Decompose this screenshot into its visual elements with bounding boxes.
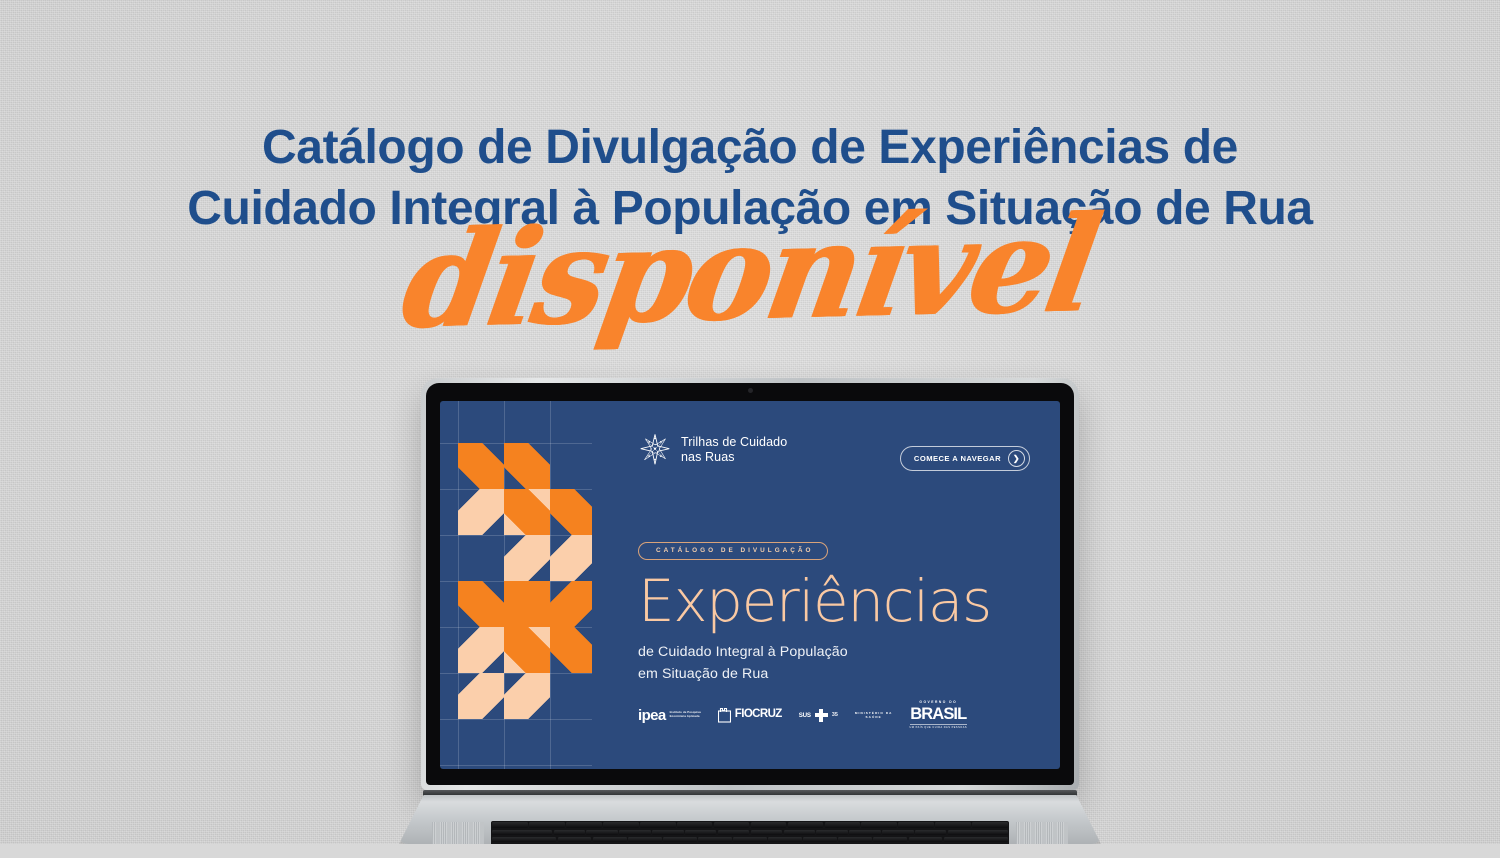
chevron-cell bbox=[504, 443, 550, 489]
keyboard-key bbox=[901, 844, 937, 850]
chevron-cell bbox=[504, 673, 550, 719]
grid-line-horizontal bbox=[440, 719, 592, 720]
brand-name: Trilhas de Cuidado nas Ruas bbox=[681, 435, 787, 466]
keyboard-key bbox=[944, 837, 1008, 843]
chevron-cell bbox=[504, 581, 550, 627]
fiocruz-mark-icon bbox=[718, 708, 731, 723]
keyboard-key bbox=[803, 837, 837, 843]
keyboard-key bbox=[603, 822, 639, 828]
chevron-cell bbox=[458, 627, 504, 673]
chevron-cell bbox=[458, 673, 504, 719]
ipea-subtitle: Instituto de Pesquisa Econômica Aplicada bbox=[670, 711, 701, 719]
governo-do-brasil-wordmark: BRASIL bbox=[910, 706, 968, 723]
keyboard-key bbox=[529, 822, 565, 828]
laptop-base bbox=[399, 781, 1101, 844]
speaker-grille-left bbox=[432, 822, 484, 855]
hero-block: CATÁLOGO DE DIVULGAÇÃO Experiências de C… bbox=[638, 539, 1036, 685]
governo-do-brasil-logo: GOVERNO DO BRASIL UM PAÍS QUE CUIDA DAS … bbox=[910, 701, 968, 729]
ministerio-line-2: SAÚDE bbox=[855, 715, 893, 719]
keyboard-key bbox=[733, 837, 767, 843]
governo-do-brasil-tagline: UM PAÍS QUE CUIDA DAS PESSOAS bbox=[910, 724, 968, 729]
chevron-cell bbox=[504, 627, 550, 673]
ministerio-da-saude-logo: MINISTÉRIO DA SAÚDE bbox=[855, 711, 893, 720]
page-title-line-2: Cuidado Integral à População em Situação… bbox=[0, 179, 1500, 240]
chevron-right-circle-icon: ❯ bbox=[1008, 450, 1025, 467]
keyboard-key bbox=[816, 830, 847, 836]
keyboard-key bbox=[873, 837, 907, 843]
hero-subtitle: de Cuidado Integral à População em Situa… bbox=[638, 642, 1036, 685]
keyboard-key bbox=[825, 822, 861, 828]
fiocruz-wordmark: FIOCRUZ bbox=[735, 709, 782, 721]
keyboard-key bbox=[948, 830, 1008, 836]
keyboard-row bbox=[492, 851, 1007, 857]
keyboard-key bbox=[788, 822, 824, 828]
keyboard-key bbox=[628, 837, 662, 843]
brand-lockup[interactable]: Trilhas de Cuidado nas Ruas bbox=[638, 433, 787, 467]
brand-name-line-1: Trilhas de Cuidado bbox=[681, 435, 787, 449]
hero-title: Experiências bbox=[638, 573, 1036, 630]
keyboard-key bbox=[713, 844, 749, 850]
ministerio-da-saude-wordmark: MINISTÉRIO DA SAÚDE bbox=[855, 711, 893, 720]
keyboard-key bbox=[718, 830, 749, 836]
laptop-screen: Trilhas de Cuidado nas Ruas COMECE A NAV… bbox=[440, 401, 1060, 769]
keyboard-key bbox=[652, 830, 683, 836]
keyboard-key bbox=[536, 851, 578, 857]
chevron-cell bbox=[550, 489, 592, 535]
keyboard-key bbox=[826, 844, 862, 850]
keyboard-key bbox=[922, 851, 964, 857]
keyboard-key bbox=[558, 837, 592, 843]
keyboard-key bbox=[580, 851, 622, 857]
keyboard-key bbox=[663, 837, 697, 843]
keyboard-key bbox=[838, 837, 872, 843]
keyboard-key bbox=[784, 830, 815, 836]
keyboard-key bbox=[566, 822, 602, 828]
grid-line-horizontal bbox=[440, 765, 592, 766]
keyboard-key bbox=[751, 830, 782, 836]
keyboard-key bbox=[675, 844, 711, 850]
keyboard-key bbox=[640, 822, 676, 828]
keyboard-key bbox=[619, 830, 650, 836]
laptop-keyboard[interactable] bbox=[491, 821, 1009, 858]
keyboard-key bbox=[768, 837, 802, 843]
start-navigating-label: COMECE A NAVEGAR bbox=[914, 454, 1001, 463]
keyboard-key bbox=[638, 844, 674, 850]
laptop-deck bbox=[399, 795, 1101, 844]
keyboard-key bbox=[492, 830, 552, 836]
keyboard-key bbox=[593, 837, 627, 843]
keyboard-key bbox=[909, 837, 943, 843]
hero-subtitle-line-2: em Situação de Rua bbox=[638, 664, 1036, 685]
sus-cross-icon bbox=[815, 709, 828, 722]
keyboard-key bbox=[935, 822, 971, 828]
keyboard-key bbox=[861, 822, 897, 828]
chevron-cell bbox=[550, 627, 592, 673]
keyboard-key bbox=[563, 844, 599, 850]
keyboard-key bbox=[788, 844, 824, 850]
ipea-wordmark: ipea bbox=[638, 708, 666, 723]
keyboard-key bbox=[863, 844, 899, 850]
eight-point-star-icon bbox=[638, 433, 672, 467]
keyboard-key bbox=[965, 851, 1007, 857]
keyboard-key bbox=[492, 844, 561, 850]
keyboard-key bbox=[751, 844, 787, 850]
screen-content: Trilhas de Cuidado nas Ruas COMECE A NAV… bbox=[592, 401, 1060, 769]
keyboard-key bbox=[492, 851, 534, 857]
laptop-bezel: Trilhas de Cuidado nas Ruas COMECE A NAV… bbox=[426, 383, 1074, 785]
keyboard-key bbox=[492, 822, 528, 828]
chevron-cell bbox=[504, 535, 550, 581]
brand-name-line-2: nas Ruas bbox=[681, 450, 787, 465]
chevron-cell bbox=[550, 581, 592, 627]
page-title-line-1: Catálogo de Divulgação de Experiências d… bbox=[0, 118, 1500, 179]
governo-do-brasil-prefix: GOVERNO DO bbox=[910, 701, 968, 704]
speaker-grille-right bbox=[1016, 822, 1068, 855]
keyboard-key bbox=[698, 837, 732, 843]
keyboard-row bbox=[492, 822, 1007, 828]
laptop-lid: Trilhas de Cuidado nas Ruas COMECE A NAV… bbox=[421, 378, 1079, 790]
fiocruz-logo: FIOCRUZ bbox=[718, 708, 782, 723]
keyboard-row bbox=[492, 830, 1007, 836]
partner-logo-strip: ipea Instituto de Pesquisa Econômica Apl… bbox=[638, 701, 967, 729]
keyboard-key bbox=[492, 837, 556, 843]
hero-subtitle-line-1: de Cuidado Integral à População bbox=[638, 642, 1036, 663]
chevron-cell bbox=[458, 443, 504, 489]
catalog-kicker-badge: CATÁLOGO DE DIVULGAÇÃO bbox=[638, 542, 828, 560]
keyboard-key bbox=[915, 830, 946, 836]
keyboard-key bbox=[714, 822, 750, 828]
keyboard-row bbox=[492, 844, 1007, 850]
keyboard-key bbox=[972, 822, 1008, 828]
keyboard-row bbox=[492, 837, 1007, 843]
keyboard-key bbox=[751, 822, 787, 828]
keyboard-key bbox=[849, 830, 880, 836]
keyboard-key bbox=[677, 822, 713, 828]
keyboard-key bbox=[600, 844, 636, 850]
sus-logo: SUS 35 bbox=[799, 709, 838, 722]
keyboard-key bbox=[554, 830, 585, 836]
chevron-grid-pattern bbox=[440, 401, 592, 769]
chevron-cell bbox=[458, 581, 504, 627]
keyboard-key bbox=[898, 822, 934, 828]
keyboard-key bbox=[623, 851, 876, 857]
keyboard-key bbox=[685, 830, 716, 836]
sus-wordmark: SUS bbox=[799, 712, 811, 719]
page-title: Catálogo de Divulgação de Experiências d… bbox=[0, 118, 1500, 240]
sus-anniversary-number: 35 bbox=[832, 712, 838, 718]
keyboard-key bbox=[882, 830, 913, 836]
screen-header: Trilhas de Cuidado nas Ruas COMECE A NAV… bbox=[638, 433, 1030, 479]
keyboard-key bbox=[939, 844, 1008, 850]
chevron-cell bbox=[458, 489, 504, 535]
keyboard-key bbox=[586, 830, 617, 836]
chevron-cell bbox=[504, 489, 550, 535]
ipea-subtitle-line-2: Econômica Aplicada bbox=[670, 715, 701, 719]
keyboard-key bbox=[878, 851, 920, 857]
laptop-mockup: Trilhas de Cuidado nas Ruas COMECE A NAV… bbox=[399, 378, 1101, 844]
chevron-cell bbox=[550, 535, 592, 581]
start-navigating-button[interactable]: COMECE A NAVEGAR ❯ bbox=[900, 446, 1030, 471]
ipea-logo: ipea Instituto de Pesquisa Econômica Apl… bbox=[638, 708, 701, 723]
